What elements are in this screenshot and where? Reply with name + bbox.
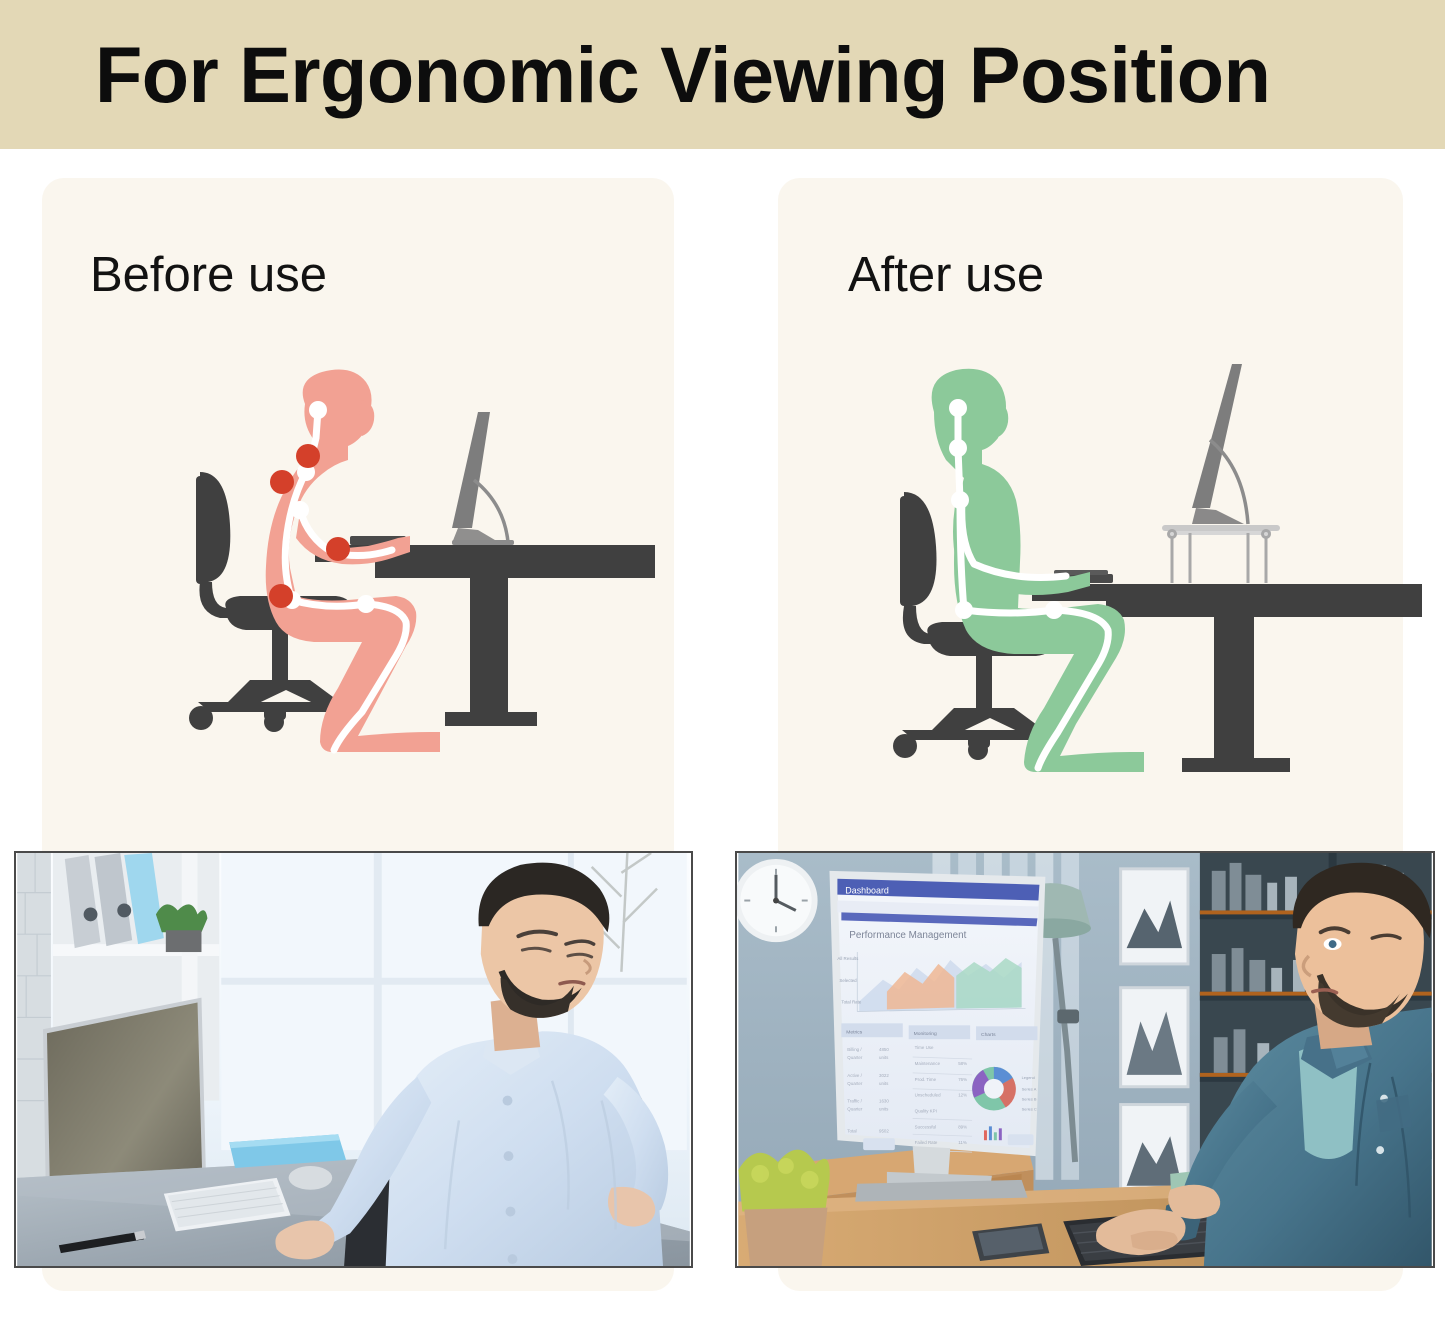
- svg-text:Quarter: Quarter: [847, 1055, 863, 1060]
- svg-text:Quarter: Quarter: [847, 1081, 863, 1086]
- mouse: [289, 1166, 333, 1190]
- svg-text:Metrics: Metrics: [846, 1029, 862, 1035]
- pain-point-neck: [296, 444, 320, 468]
- svg-text:Prod. Time: Prod. Time: [915, 1077, 937, 1082]
- before-use-illustration: [100, 360, 660, 800]
- before-use-label: Before use: [90, 247, 327, 303]
- svg-text:units: units: [879, 1055, 889, 1060]
- page-root: For Ergonomic Viewing Position Before us…: [0, 0, 1445, 1333]
- screen-donut-chart: [972, 1067, 1016, 1111]
- svg-text:Quality KPI: Quality KPI: [915, 1108, 937, 1113]
- header-banner: For Ergonomic Viewing Position: [0, 0, 1445, 149]
- monitor-shape: [1192, 364, 1248, 524]
- pain-point-lower-back: [269, 584, 293, 608]
- svg-text:Maintenance: Maintenance: [915, 1061, 941, 1066]
- svg-text:11%: 11%: [958, 1140, 967, 1145]
- svg-text:Total Rate: Total Rate: [841, 1000, 862, 1005]
- svg-text:Quarter: Quarter: [847, 1107, 863, 1112]
- pain-point-shoulder: [270, 470, 294, 494]
- screen-window-title: Dashboard: [845, 886, 889, 896]
- svg-text:Traffic /: Traffic /: [847, 1099, 862, 1104]
- svg-text:76%: 76%: [958, 1077, 967, 1082]
- svg-text:4850: 4850: [879, 1047, 889, 1052]
- svg-text:Unscheduled: Unscheduled: [915, 1093, 941, 1098]
- svg-text:Successful: Successful: [915, 1124, 936, 1129]
- monitor-riser-shape: [1162, 525, 1280, 583]
- page-title: For Ergonomic Viewing Position: [95, 35, 1270, 114]
- svg-text:Active /: Active /: [847, 1073, 862, 1078]
- after-use-photo: Dashboard Performance Management All Res…: [735, 851, 1435, 1268]
- potted-plant: [738, 1150, 829, 1266]
- svg-text:Time Use: Time Use: [915, 1045, 934, 1050]
- after-use-label: After use: [848, 247, 1044, 303]
- svg-text:Series A: Series A: [1022, 1087, 1037, 1092]
- svg-text:Selected: Selected: [839, 978, 857, 983]
- svg-text:units: units: [879, 1107, 889, 1112]
- before-use-photo: [14, 851, 693, 1268]
- wall-clock: [737, 859, 818, 942]
- svg-text:All Results: All Results: [837, 956, 859, 961]
- svg-text:Charts: Charts: [981, 1032, 996, 1038]
- svg-text:Legend: Legend: [1022, 1075, 1035, 1080]
- svg-text:units: units: [879, 1081, 889, 1086]
- framed-art-group: [1121, 869, 1188, 1200]
- svg-text:Series B: Series B: [1022, 1097, 1037, 1102]
- svg-text:Billing /: Billing /: [847, 1047, 862, 1052]
- svg-text:89%: 89%: [958, 1124, 967, 1129]
- svg-text:58%: 58%: [958, 1061, 967, 1066]
- monitor-shape: [452, 412, 514, 545]
- svg-text:Total: Total: [847, 1128, 856, 1133]
- svg-text:Monitoring: Monitoring: [914, 1031, 937, 1037]
- svg-text:12%: 12%: [958, 1093, 967, 1098]
- pain-point-elbow: [326, 537, 350, 561]
- svg-text:Series C: Series C: [1022, 1107, 1037, 1112]
- svg-text:9502: 9502: [879, 1128, 889, 1133]
- svg-text:1630: 1630: [879, 1099, 889, 1104]
- screen-page-title: Performance Management: [849, 930, 966, 941]
- after-use-illustration: [862, 352, 1422, 800]
- svg-text:Failed Rate: Failed Rate: [915, 1140, 938, 1145]
- svg-text:3022: 3022: [879, 1073, 889, 1078]
